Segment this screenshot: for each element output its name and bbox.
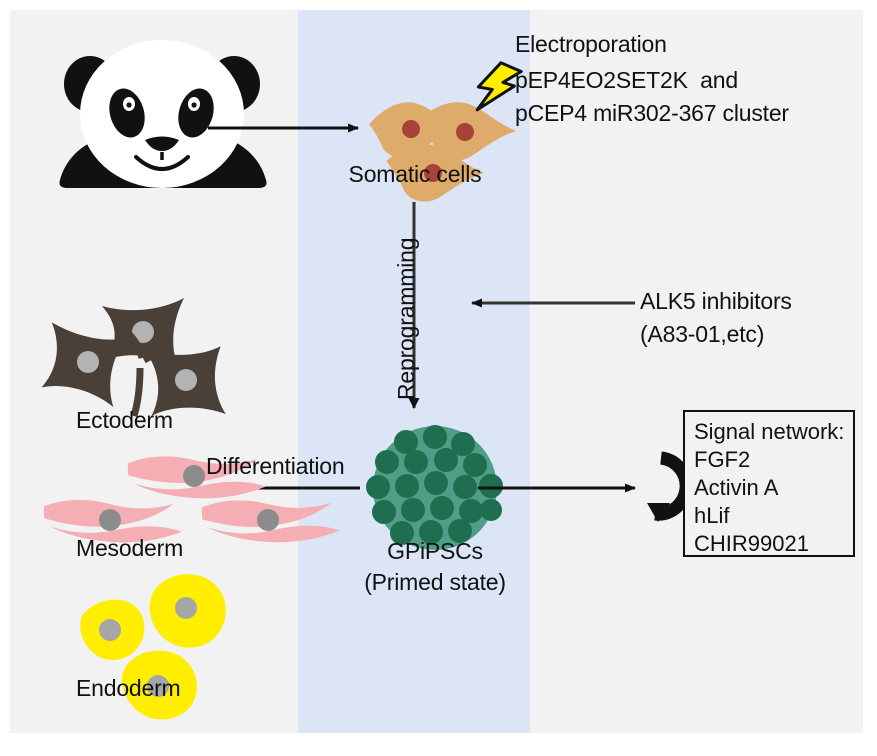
gpipsc-label-line1: GPiPSCs — [355, 537, 515, 566]
differentiation-label: Differentiation — [206, 452, 345, 481]
signal-network-item-1: Activin A — [694, 474, 853, 502]
signal-network-item-0: FGF2 — [694, 446, 853, 474]
panda-illustration — [59, 40, 266, 188]
electroporation-line3: pCEP4 miR302-367 cluster — [515, 99, 789, 128]
gpipsc-label-line2: (Primed state) — [355, 568, 515, 597]
signal-network-item-2: hLif — [694, 502, 853, 530]
ectoderm-cells-illustration — [40, 298, 228, 422]
figure-canvas: Electroporation pEP4EO2SET2K and pCEP4 m… — [10, 10, 863, 733]
mesoderm-label: Mesoderm — [76, 534, 183, 563]
signal-network-box: Signal network: FGF2 Activin A hLif CHIR… — [683, 410, 855, 557]
somatic-cells-label: Somatic cells — [340, 160, 490, 189]
alk5-line1: ALK5 inhibitors — [640, 287, 792, 316]
electroporation-line2: pEP4EO2SET2K and — [515, 66, 738, 95]
endoderm-label: Endoderm — [76, 674, 181, 703]
circular-arrow-icon — [647, 458, 686, 522]
alk5-line2: (A83-01,etc) — [640, 320, 764, 349]
ectoderm-label: Ectoderm — [76, 406, 173, 435]
reprogramming-label: Reprogramming — [392, 238, 421, 400]
signal-network-item-3: CHIR99021 — [694, 530, 853, 558]
electroporation-line1: Electroporation — [515, 30, 667, 59]
signal-network-title: Signal network: — [694, 418, 853, 446]
